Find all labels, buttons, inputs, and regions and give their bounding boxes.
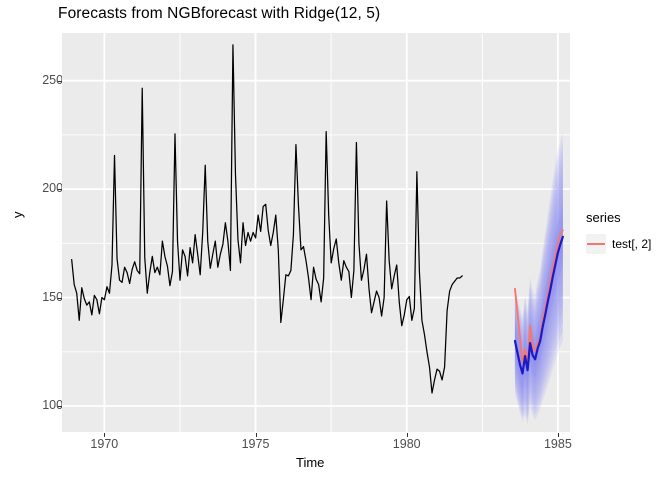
x-tick-mark: [407, 433, 408, 437]
legend: series test[, 2]: [586, 210, 651, 254]
x-tick-label: 1975: [242, 437, 270, 451]
x-tick-label: 1970: [90, 437, 118, 451]
x-tick-mark: [104, 433, 105, 437]
legend-key-line-icon: [586, 234, 606, 254]
chart-root: Forecasts from NGBforecast with Ridge(12…: [0, 0, 672, 480]
legend-items: test[, 2]: [586, 234, 651, 254]
x-axis-title: Time: [296, 455, 324, 470]
plot-panel-wrap: [62, 33, 570, 432]
x-tick-mark: [558, 433, 559, 437]
plot-panel: [62, 33, 570, 432]
legend-item[interactable]: test[, 2]: [586, 234, 651, 254]
x-tick-label: 1980: [393, 437, 421, 451]
series-line-history: [72, 45, 463, 393]
x-tick-mark: [256, 433, 257, 437]
legend-title: series: [586, 210, 651, 225]
legend-item-label: test[, 2]: [612, 237, 651, 251]
page-title: Forecasts from NGBforecast with Ridge(12…: [58, 5, 380, 23]
y-axis-title: y: [10, 212, 25, 219]
plot-svg: [62, 33, 570, 432]
x-tick-label: 1985: [544, 437, 572, 451]
